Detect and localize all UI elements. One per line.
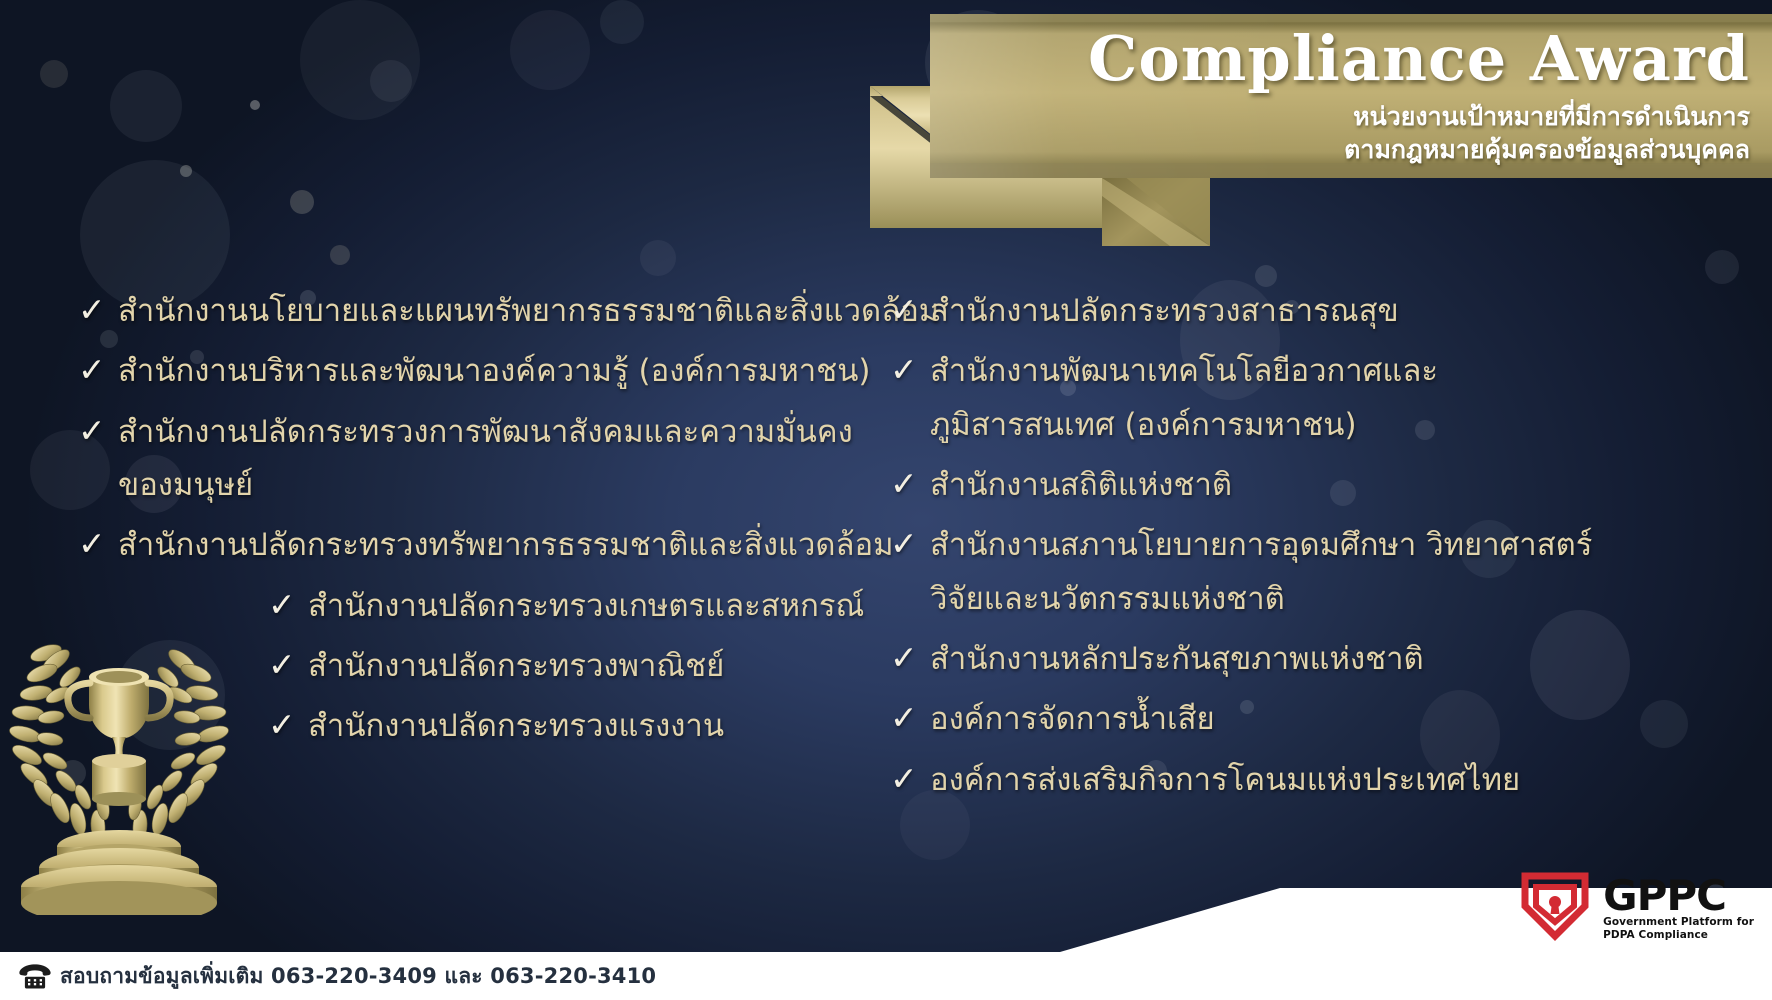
list-item-label: สำนักงานสภานโยบายการอุดมศึกษา วิทยาศาสตร… (930, 519, 1592, 626)
bokeh-circle (300, 0, 420, 120)
list-item-line: ภูมิสารสนเทศ (องค์การมหาชน) (930, 399, 1438, 452)
agency-list-right: ✓ สำนักงานปลัดกระทรวงสาธารณสุข ✓ สำนักงา… (890, 285, 1770, 814)
list-item: ✓ สำนักงานนโยบายและแผนทรัพยากรธรรมชาติแล… (78, 285, 908, 338)
list-item-label: สำนักงานปลัดกระทรวงเกษตรและสหกรณ์ (308, 580, 864, 633)
list-item-label: สำนักงานบริหารและพัฒนาองค์ความรู้ (องค์ก… (118, 345, 871, 398)
check-icon: ✓ (268, 580, 308, 621)
page-subtitle: หน่วยงานเป้าหมายที่มีการดำเนินการ ตามกฎห… (1344, 100, 1750, 166)
check-icon: ✓ (890, 754, 930, 795)
list-item-label: องค์การส่งเสริมกิจการโคนมแห่งประเทศไทย (930, 754, 1520, 807)
list-item-label: สำนักงานสถิติแห่งชาติ (930, 459, 1232, 512)
page-title: Compliance Award (1088, 22, 1750, 95)
check-icon: ✓ (78, 406, 118, 447)
bokeh-circle (250, 100, 260, 110)
check-icon: ✓ (890, 345, 930, 386)
bokeh-circle (110, 70, 182, 142)
bokeh-circle (600, 0, 644, 44)
check-icon: ✓ (78, 285, 118, 326)
award-ribbon-banner: Compliance Award หน่วยงานเป้าหมายที่มีกา… (870, 0, 1772, 290)
list-item: ✓ องค์การจัดการน้ำเสีย (890, 693, 1770, 746)
list-item-line: สำนักงานสภานโยบายการอุดมศึกษา วิทยาศาสตร… (930, 519, 1592, 572)
check-icon: ✓ (890, 519, 930, 560)
list-item-label: สำนักงานหลักประกันสุขภาพแห่งชาติ (930, 633, 1424, 686)
logo-wordmark: GPPC Government Platform for PDPA Compli… (1603, 876, 1754, 941)
list-item-line: วิจัยและนวัตกรรมแห่งชาติ (930, 573, 1592, 626)
check-icon: ✓ (890, 633, 930, 674)
list-item-label: สำนักงานปลัดกระทรวงทรัพยากรธรรมชาติและสิ… (118, 519, 894, 572)
list-item: ✓ องค์การส่งเสริมกิจการโคนมแห่งประเทศไทย (890, 754, 1770, 807)
telephone-icon (16, 962, 54, 990)
list-item-line: สำนักงานพัฒนาเทคโนโลยีอวกาศและ (930, 345, 1438, 398)
check-icon: ✓ (78, 519, 118, 560)
check-icon: ✓ (78, 345, 118, 386)
list-item: ✓ สำนักงานสถิติแห่งชาติ (890, 459, 1770, 512)
bokeh-circle (180, 165, 192, 177)
list-item: ✓ สำนักงานปลัดกระทรวงสาธารณสุข (890, 285, 1770, 338)
bokeh-circle (40, 60, 68, 88)
check-icon: ✓ (890, 285, 930, 326)
check-icon: ✓ (268, 700, 308, 741)
trophy-laurel-icon (4, 625, 234, 915)
check-icon: ✓ (268, 640, 308, 681)
list-item-label: สำนักงานปลัดกระทรวงการพัฒนาสังคมและความม… (118, 406, 853, 513)
list-item: ✓ สำนักงานปลัดกระทรวงการพัฒนาสังคมและควา… (78, 406, 908, 513)
bokeh-circle (290, 190, 314, 214)
logo-name: GPPC (1603, 876, 1754, 916)
list-item: ✓ สำนักงานสภานโยบายการอุดมศึกษา วิทยาศาส… (890, 519, 1770, 626)
gppc-logo: GPPC Government Platform for PDPA Compli… (1519, 870, 1754, 948)
list-item-line: ของมนุษย์ (118, 459, 853, 512)
page-subtitle-line-1: หน่วยงานเป้าหมายที่มีการดำเนินการ (1344, 100, 1750, 133)
list-item-label: องค์การจัดการน้ำเสีย (930, 693, 1215, 746)
logo-tagline-line-1: Government Platform for (1603, 916, 1754, 929)
list-item: ✓ สำนักงานพัฒนาเทคโนโลยีอวกาศและ ภูมิสาร… (890, 345, 1770, 452)
poster-canvas: Compliance Award หน่วยงานเป้าหมายที่มีกา… (0, 0, 1772, 1000)
bokeh-circle (370, 60, 412, 102)
list-item: ✓ สำนักงานบริหารและพัฒนาองค์ความรู้ (องค… (78, 345, 908, 398)
bokeh-circle (640, 240, 676, 276)
list-item-label: สำนักงานนโยบายและแผนทรัพยากรธรรมชาติและส… (118, 285, 939, 338)
list-item: ✓ สำนักงานหลักประกันสุขภาพแห่งชาติ (890, 633, 1770, 686)
list-item-label: สำนักงานปลัดกระทรวงสาธารณสุข (930, 285, 1399, 338)
list-item-line: สำนักงานปลัดกระทรวงการพัฒนาสังคมและความม… (118, 406, 853, 459)
check-icon: ✓ (890, 693, 930, 734)
list-item: ✓ สำนักงานปลัดกระทรวงทรัพยากรธรรมชาติและ… (78, 519, 908, 572)
contact-info: สอบถามข้อมูลเพิ่มเติม 063-220-3409 และ 0… (60, 952, 656, 1000)
list-item-label: สำนักงานพัฒนาเทคโนโลยีอวกาศและ ภูมิสารสน… (930, 345, 1438, 452)
bokeh-circle (510, 10, 590, 90)
page-subtitle-line-2: ตามกฎหมายคุ้มครองข้อมูลส่วนบุคคล (1344, 133, 1750, 166)
logo-tagline-line-2: PDPA Compliance (1603, 929, 1754, 942)
shield-lock-icon (1519, 870, 1591, 948)
logo-tagline: Government Platform for PDPA Compliance (1603, 916, 1754, 942)
check-icon: ✓ (890, 459, 930, 500)
list-item-label: สำนักงานปลัดกระทรวงแรงงาน (308, 700, 724, 753)
bokeh-circle (330, 245, 350, 265)
list-item-label: สำนักงานปลัดกระทรวงพาณิชย์ (308, 640, 724, 693)
